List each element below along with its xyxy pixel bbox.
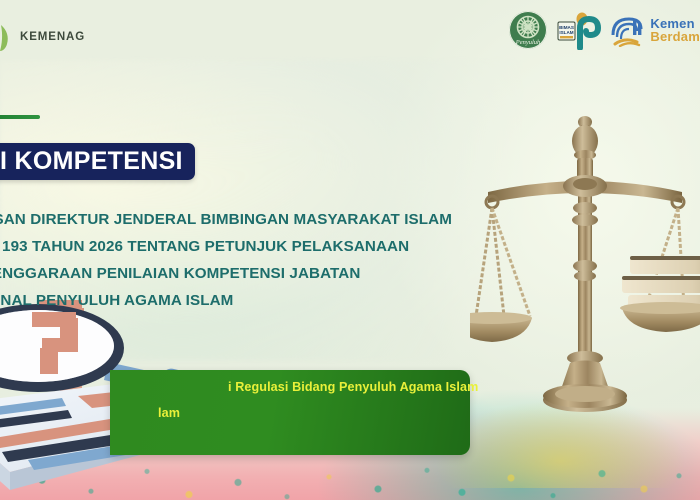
partner-logos: Penyuluh BIMAS ISLAM	[509, 6, 700, 54]
svg-text:ISLAM: ISLAM	[560, 30, 574, 35]
green-rule-divider	[0, 115, 40, 119]
kemenag-wordmark: KEMENAG	[20, 31, 85, 43]
poster-canvas: KEMENAG Penyuluh	[0, 0, 700, 500]
kemenag-berdampak-logo: Kemen Berdam	[611, 13, 700, 47]
berdampak-wordmark: Kemen Berdam	[650, 17, 700, 44]
body-text-block: UTUSAN DIREKTUR JENDERAL BIMBINGAN MASYA…	[0, 206, 522, 314]
title-banner: I KOMPETENSI	[0, 143, 195, 180]
body-line: MOR 193 TAHUN 2026 TENTANG PETUNJUK PELA…	[0, 233, 522, 260]
page-title: I KOMPETENSI	[0, 147, 183, 176]
green-card-line1: i Regulasi Bidang Penyuluh Agama Islam	[228, 380, 478, 394]
berdampak-line1: Kemen	[650, 17, 700, 30]
body-line: GSIONAL PENYULUH AGAMA ISLAM	[0, 287, 522, 314]
berdampak-line2: Berdam	[650, 30, 700, 43]
header: KEMENAG Penyuluh	[0, 0, 700, 62]
body-line: UTUSAN DIREKTUR JENDERAL BIMBINGAN MASYA…	[0, 206, 522, 233]
svg-text:Penyuluh: Penyuluh	[515, 39, 541, 46]
green-card-line2: lam	[158, 406, 180, 420]
bimas-islam-logo-icon: BIMAS ISLAM	[556, 10, 602, 50]
kemenag-brand[interactable]: KEMENAG	[0, 22, 85, 52]
penyuluh-logo-icon: Penyuluh	[509, 11, 547, 49]
berdampak-glyph-icon	[611, 13, 645, 47]
kemenag-leaf-logo-icon	[0, 22, 12, 52]
green-callout-card: i Regulasi Bidang Penyuluh Agama Islam l…	[110, 370, 470, 455]
body-line: YELENGGARAAN PENILAIAN KOMPETENSI JABATA…	[0, 260, 522, 287]
